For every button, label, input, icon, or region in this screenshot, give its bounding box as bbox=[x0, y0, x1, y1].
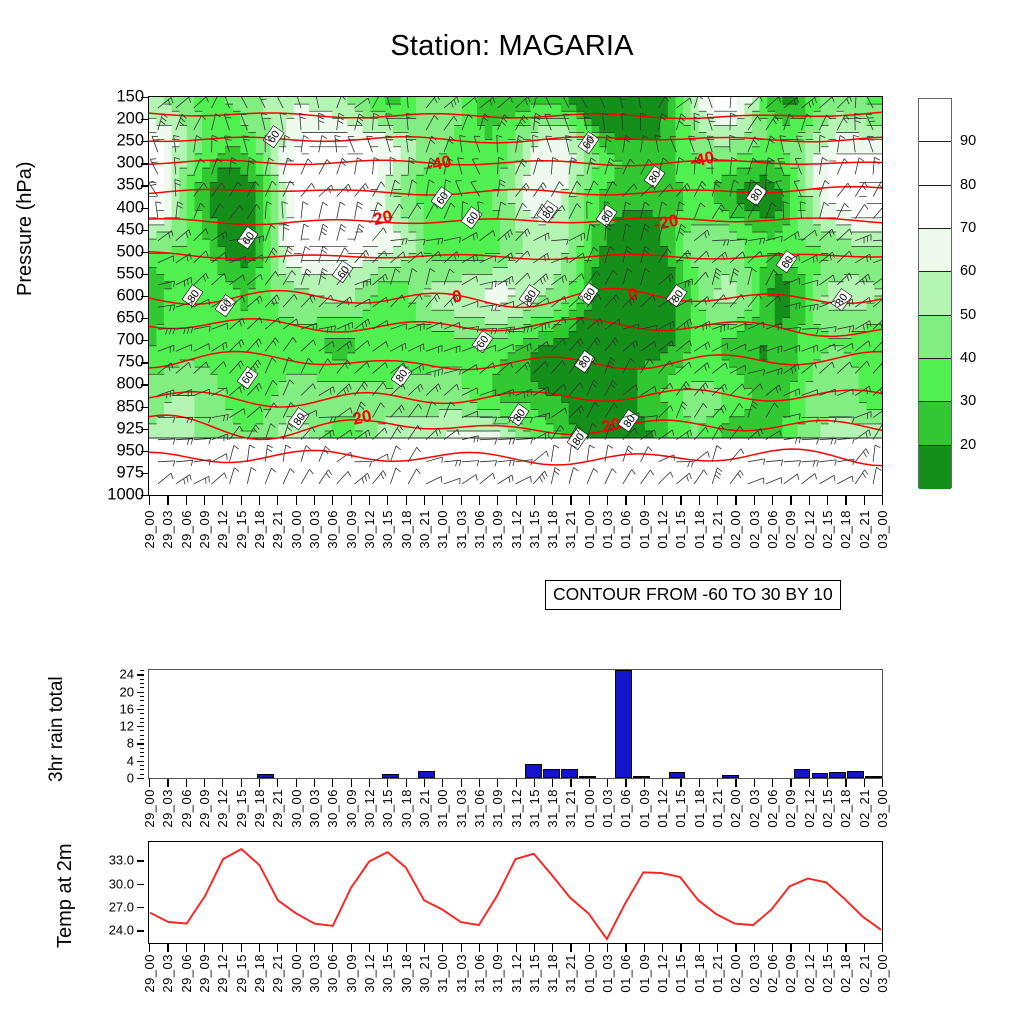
x-tick bbox=[479, 496, 480, 505]
pressure-tick bbox=[141, 429, 148, 430]
pressure-label: 300 bbox=[90, 154, 144, 173]
x-axis-label: 01_09 bbox=[637, 789, 652, 828]
x-axis-label: 01_18 bbox=[692, 510, 707, 549]
x-axis-label: 30_18 bbox=[399, 510, 414, 549]
x-tick bbox=[809, 944, 810, 952]
x-tick bbox=[772, 779, 773, 787]
temp-y-tick bbox=[137, 930, 144, 931]
x-axis-label: 29_18 bbox=[252, 789, 267, 828]
rain-y-minor-tick bbox=[140, 735, 144, 736]
rain-y-minor-tick bbox=[140, 752, 144, 753]
pressure-tick bbox=[141, 230, 148, 231]
x-axis-label: 30_21 bbox=[417, 789, 432, 828]
x-axis-label: 30_06 bbox=[325, 789, 340, 828]
contour-field: -40-40-20-200020206060608060608080808060… bbox=[149, 97, 882, 495]
rain-panel-x-ticks bbox=[148, 779, 883, 789]
x-tick bbox=[589, 779, 590, 787]
x-axis-label: 02_03 bbox=[747, 510, 762, 549]
x-tick bbox=[570, 779, 571, 787]
rain-bar[interactable] bbox=[561, 769, 578, 778]
temp-panel-x-ticks bbox=[148, 944, 883, 954]
rain-y-tick bbox=[137, 778, 144, 779]
x-tick bbox=[790, 779, 791, 787]
x-axis-label: 02_15 bbox=[820, 789, 835, 828]
x-axis-label: 02_06 bbox=[765, 510, 780, 549]
x-axis-label: 31_00 bbox=[435, 789, 450, 828]
pressure-label: 250 bbox=[90, 132, 144, 151]
x-tick bbox=[827, 779, 828, 787]
x-tick bbox=[167, 496, 168, 505]
x-tick bbox=[790, 496, 791, 505]
x-axis-label: 31_03 bbox=[454, 789, 469, 828]
x-axis-label: 03_00 bbox=[875, 789, 890, 828]
pressure-tick bbox=[141, 119, 148, 120]
rain-bar[interactable] bbox=[794, 769, 811, 778]
rain-panel-y-axis-title: 3hr rain total bbox=[46, 676, 68, 782]
x-axis-label: 01_18 bbox=[692, 954, 707, 993]
x-tick bbox=[570, 944, 571, 952]
x-axis-label: 30_21 bbox=[417, 510, 432, 549]
x-axis-label: 02_12 bbox=[802, 954, 817, 993]
x-axis-label: 02_18 bbox=[838, 510, 853, 549]
pressure-tick bbox=[141, 407, 148, 408]
rain-y-minor-tick bbox=[140, 683, 144, 684]
rain-panel-y-axis-labels: 04812162024 bbox=[98, 669, 144, 779]
x-tick bbox=[259, 944, 260, 952]
temperature-line-chart[interactable] bbox=[148, 841, 883, 944]
x-tick bbox=[662, 944, 663, 952]
x-axis-label: 29_03 bbox=[160, 789, 175, 828]
x-axis-label: 02_15 bbox=[820, 954, 835, 993]
rain-y-minor-tick bbox=[140, 679, 144, 680]
x-tick bbox=[369, 496, 370, 505]
x-tick bbox=[882, 779, 883, 787]
rain-y-label: 0 bbox=[100, 771, 134, 786]
x-tick bbox=[222, 944, 223, 952]
x-axis-label: 31_09 bbox=[490, 510, 505, 549]
x-axis-label: 02_18 bbox=[838, 954, 853, 993]
pressure-tick bbox=[141, 362, 148, 363]
x-tick bbox=[314, 944, 315, 952]
x-tick bbox=[442, 779, 443, 787]
pressure-label: 950 bbox=[90, 441, 144, 460]
rain-y-minor-tick bbox=[140, 670, 144, 671]
x-axis-label: 01_06 bbox=[618, 510, 633, 549]
colorbar-band bbox=[919, 316, 951, 359]
pressure-label: 650 bbox=[90, 309, 144, 328]
x-axis-label: 29_18 bbox=[252, 954, 267, 993]
temp-y-label: 33.0 bbox=[94, 853, 134, 868]
x-tick bbox=[241, 944, 242, 952]
x-axis-label: 01_06 bbox=[618, 954, 633, 993]
pressure-tick bbox=[141, 473, 148, 474]
x-axis-label: 29_21 bbox=[270, 789, 285, 828]
pressure-tick bbox=[141, 296, 148, 297]
x-axis-label: 31_21 bbox=[563, 510, 578, 549]
x-axis-label: 31_15 bbox=[527, 789, 542, 828]
x-axis-label: 31_09 bbox=[490, 954, 505, 993]
rain-y-minor-tick bbox=[140, 687, 144, 688]
x-axis-label: 30_00 bbox=[289, 954, 304, 993]
colorbar-tick-label: 40 bbox=[960, 350, 976, 366]
x-axis-label: 29_06 bbox=[179, 510, 194, 549]
rain-bar[interactable] bbox=[615, 670, 632, 778]
rain-bar[interactable] bbox=[382, 774, 399, 778]
rain-bar[interactable] bbox=[669, 772, 686, 778]
x-axis-label: 02_09 bbox=[783, 789, 798, 828]
x-tick bbox=[864, 944, 865, 952]
x-axis-label: 01_21 bbox=[710, 789, 725, 828]
x-tick bbox=[754, 779, 755, 787]
pressure-label: 975 bbox=[90, 463, 144, 482]
x-axis-label: 29_09 bbox=[197, 510, 212, 549]
rain-bar[interactable] bbox=[722, 775, 739, 778]
temp-panel-y-axis-title: Temp at 2m bbox=[54, 844, 77, 948]
x-tick bbox=[186, 779, 187, 787]
x-axis-label: 31_18 bbox=[545, 510, 560, 549]
x-axis-label: 29_00 bbox=[142, 954, 157, 993]
pressure-label: 800 bbox=[90, 375, 144, 394]
colorbar-band bbox=[919, 402, 951, 445]
x-axis-label: 02_00 bbox=[728, 954, 743, 993]
x-tick bbox=[845, 496, 846, 505]
x-axis-label: 31_00 bbox=[435, 954, 450, 993]
x-tick bbox=[351, 779, 352, 787]
x-tick bbox=[607, 944, 608, 952]
pressure-label: 550 bbox=[90, 264, 144, 283]
temp-y-tick bbox=[137, 860, 144, 861]
x-tick bbox=[442, 496, 443, 505]
colorbar-band bbox=[919, 359, 951, 402]
x-axis-label: 29_09 bbox=[197, 789, 212, 828]
x-tick bbox=[717, 779, 718, 787]
x-axis-label: 31_03 bbox=[454, 954, 469, 993]
colorbar-tick-label: 60 bbox=[960, 263, 976, 279]
x-axis-label: 02_18 bbox=[838, 789, 853, 828]
rain-y-minor-tick bbox=[140, 705, 144, 706]
rain-bar[interactable] bbox=[257, 774, 274, 778]
x-axis-label: 02_12 bbox=[802, 510, 817, 549]
rain-y-minor-tick bbox=[140, 748, 144, 749]
x-axis-label: 02_12 bbox=[802, 789, 817, 828]
x-tick bbox=[809, 779, 810, 787]
x-axis-label: 30_12 bbox=[362, 789, 377, 828]
rain-y-minor-tick bbox=[140, 774, 144, 775]
rain-bar[interactable] bbox=[829, 772, 846, 778]
main-panel-y-axis-title: Pressure (hPa) bbox=[14, 162, 37, 297]
rain-bar[interactable] bbox=[865, 776, 882, 778]
x-tick bbox=[864, 496, 865, 505]
x-tick bbox=[699, 496, 700, 505]
x-axis-label: 02_00 bbox=[728, 789, 743, 828]
rain-bar[interactable] bbox=[633, 776, 650, 778]
pressure-label: 500 bbox=[90, 242, 144, 261]
rain-y-minor-tick bbox=[140, 713, 144, 714]
colorbar-tick-label: 20 bbox=[960, 437, 976, 453]
x-tick bbox=[387, 944, 388, 952]
x-axis-label: 01_00 bbox=[582, 510, 597, 549]
pressure-tick bbox=[141, 141, 148, 142]
rain-bar[interactable] bbox=[812, 773, 829, 778]
x-tick bbox=[149, 944, 150, 952]
x-axis-label: 01_09 bbox=[637, 510, 652, 549]
x-axis-label: 02_09 bbox=[783, 954, 798, 993]
x-tick bbox=[589, 496, 590, 505]
x-axis-label: 31_03 bbox=[454, 510, 469, 549]
x-axis-label: 01_03 bbox=[600, 789, 615, 828]
x-axis-label: 01_21 bbox=[710, 954, 725, 993]
x-tick bbox=[644, 779, 645, 787]
x-tick bbox=[754, 944, 755, 952]
x-axis-label: 30_00 bbox=[289, 789, 304, 828]
x-axis-label: 31_21 bbox=[563, 789, 578, 828]
x-tick bbox=[296, 496, 297, 505]
x-tick bbox=[644, 496, 645, 505]
x-tick bbox=[149, 496, 150, 505]
x-tick bbox=[516, 944, 517, 952]
x-tick bbox=[827, 944, 828, 952]
x-tick bbox=[204, 779, 205, 787]
rain-y-minor-tick bbox=[140, 696, 144, 697]
x-axis-label: 30_15 bbox=[380, 510, 395, 549]
x-tick bbox=[222, 779, 223, 787]
x-tick bbox=[717, 944, 718, 952]
pressure-label: 200 bbox=[90, 110, 144, 129]
x-tick bbox=[625, 944, 626, 952]
x-tick bbox=[534, 944, 535, 952]
x-tick bbox=[296, 944, 297, 952]
pressure-tick bbox=[141, 384, 148, 385]
x-axis-label: 02_21 bbox=[857, 954, 872, 993]
x-axis-label: 30_00 bbox=[289, 510, 304, 549]
rain-y-minor-tick bbox=[140, 739, 144, 740]
pressure-tick bbox=[141, 97, 148, 98]
rain-y-minor-tick bbox=[140, 700, 144, 701]
x-tick bbox=[864, 779, 865, 787]
x-axis-label: 30_12 bbox=[362, 510, 377, 549]
rain-y-tick bbox=[137, 761, 144, 762]
rain-bar[interactable] bbox=[847, 771, 864, 778]
x-tick bbox=[241, 779, 242, 787]
temp-panel-y-axis-labels: 24.027.030.033.0 bbox=[90, 841, 144, 944]
x-axis-label: 31_15 bbox=[527, 510, 542, 549]
x-axis-label: 30_21 bbox=[417, 954, 432, 993]
x-tick bbox=[149, 779, 150, 787]
rain-y-tick bbox=[137, 692, 144, 693]
colorbar-tick-label: 90 bbox=[960, 133, 976, 149]
colorbar-tick-label: 70 bbox=[960, 220, 976, 236]
x-axis-label: 30_03 bbox=[307, 954, 322, 993]
x-axis-label: 30_09 bbox=[344, 789, 359, 828]
x-tick bbox=[259, 779, 260, 787]
x-axis-label: 30_03 bbox=[307, 789, 322, 828]
pressure-label: 700 bbox=[90, 331, 144, 350]
x-axis-label: 30_15 bbox=[380, 954, 395, 993]
x-tick bbox=[424, 496, 425, 505]
rain-y-tick bbox=[137, 743, 144, 744]
x-tick bbox=[735, 779, 736, 787]
x-tick bbox=[186, 496, 187, 505]
rain-bar[interactable] bbox=[418, 771, 435, 778]
x-tick bbox=[442, 944, 443, 952]
pressure-tick bbox=[141, 318, 148, 319]
pressure-label: 150 bbox=[90, 88, 144, 107]
pressure-label: 925 bbox=[90, 419, 144, 438]
x-tick bbox=[790, 944, 791, 952]
x-axis-label: 29_06 bbox=[179, 789, 194, 828]
temp-y-label: 24.0 bbox=[94, 923, 134, 938]
x-tick bbox=[552, 779, 553, 787]
rain-y-tick bbox=[137, 709, 144, 710]
x-tick bbox=[277, 944, 278, 952]
x-tick bbox=[406, 944, 407, 952]
x-tick bbox=[186, 944, 187, 952]
x-tick bbox=[699, 779, 700, 787]
x-tick bbox=[351, 496, 352, 505]
x-axis-label: 01_12 bbox=[655, 789, 670, 828]
x-axis-label: 31_06 bbox=[472, 789, 487, 828]
x-axis-label: 29_09 bbox=[197, 954, 212, 993]
rain-y-tick bbox=[137, 726, 144, 727]
x-axis-label: 31_00 bbox=[435, 510, 450, 549]
x-axis-label: 30_03 bbox=[307, 510, 322, 549]
rain-bar[interactable] bbox=[525, 764, 542, 778]
rain-y-minor-tick bbox=[140, 730, 144, 731]
x-tick bbox=[607, 779, 608, 787]
x-axis-label: 29_06 bbox=[179, 954, 194, 993]
pressure-tick bbox=[141, 274, 148, 275]
colorbar-band bbox=[919, 272, 951, 315]
pressure-tick bbox=[141, 163, 148, 164]
x-tick bbox=[497, 944, 498, 952]
colorbar-tick-label: 30 bbox=[960, 393, 976, 409]
x-tick bbox=[882, 944, 883, 952]
x-axis-label: 02_15 bbox=[820, 510, 835, 549]
x-axis-label: 29_00 bbox=[142, 510, 157, 549]
x-tick bbox=[461, 944, 462, 952]
x-axis-label: 31_15 bbox=[527, 954, 542, 993]
x-axis-label: 01_15 bbox=[673, 789, 688, 828]
x-axis-label: 30_15 bbox=[380, 789, 395, 828]
x-tick bbox=[754, 496, 755, 505]
colorbar-band bbox=[919, 99, 951, 142]
x-axis-label: 02_00 bbox=[728, 510, 743, 549]
x-tick bbox=[369, 944, 370, 952]
x-axis-label: 29_18 bbox=[252, 510, 267, 549]
x-axis-label: 29_12 bbox=[215, 954, 230, 993]
x-axis-label: 01_15 bbox=[673, 954, 688, 993]
colorbar[interactable] bbox=[918, 98, 952, 488]
x-tick bbox=[167, 944, 168, 952]
x-tick bbox=[827, 496, 828, 505]
rain-y-label: 16 bbox=[100, 701, 134, 716]
x-tick bbox=[534, 779, 535, 787]
x-axis-label: 02_06 bbox=[765, 954, 780, 993]
x-tick bbox=[479, 779, 480, 787]
rain-bar[interactable] bbox=[543, 769, 560, 778]
x-tick bbox=[204, 496, 205, 505]
temp-panel-x-axis-labels: 29_0029_0329_0629_0929_1229_1529_1829_21… bbox=[148, 954, 883, 1016]
pressure-label: 450 bbox=[90, 220, 144, 239]
rain-bar[interactable] bbox=[579, 776, 596, 778]
x-axis-label: 31_18 bbox=[545, 789, 560, 828]
x-tick bbox=[332, 496, 333, 505]
x-axis-label: 01_00 bbox=[582, 954, 597, 993]
x-tick bbox=[461, 496, 462, 505]
main-panel-y-axis-labels: 1502002503003504004505005506006507007508… bbox=[86, 96, 144, 496]
x-tick bbox=[497, 779, 498, 787]
rain-y-minor-tick bbox=[140, 722, 144, 723]
x-tick bbox=[424, 779, 425, 787]
x-tick bbox=[406, 496, 407, 505]
rain-y-minor-tick bbox=[140, 756, 144, 757]
x-axis-label: 29_00 bbox=[142, 789, 157, 828]
pressure-tick bbox=[141, 495, 148, 496]
x-tick bbox=[296, 779, 297, 787]
page-title: Station: MAGARIA bbox=[0, 30, 1024, 63]
x-tick bbox=[570, 496, 571, 505]
x-tick bbox=[882, 496, 883, 505]
colorbar-band bbox=[919, 229, 951, 272]
humidity-cross-section-plot[interactable]: -40-40-20-200020206060608060608080808060… bbox=[148, 96, 883, 496]
colorbar-band bbox=[919, 142, 951, 185]
x-axis-label: 01_00 bbox=[582, 789, 597, 828]
x-tick bbox=[680, 779, 681, 787]
pressure-tick bbox=[141, 340, 148, 341]
pressure-tick bbox=[141, 208, 148, 209]
x-axis-label: 01_15 bbox=[673, 510, 688, 549]
x-axis-label: 02_21 bbox=[857, 789, 872, 828]
x-axis-label: 01_09 bbox=[637, 954, 652, 993]
x-axis-label: 30_06 bbox=[325, 954, 340, 993]
x-tick bbox=[845, 779, 846, 787]
x-tick bbox=[387, 496, 388, 505]
x-axis-label: 01_06 bbox=[618, 789, 633, 828]
x-tick bbox=[406, 779, 407, 787]
x-tick bbox=[516, 496, 517, 505]
x-tick bbox=[534, 496, 535, 505]
main-panel-x-axis-labels: 29_0029_0329_0629_0929_1229_1529_1829_21… bbox=[148, 510, 883, 572]
x-axis-label: 31_09 bbox=[490, 789, 505, 828]
contour-info-box: CONTOUR FROM -60 TO 30 BY 10 bbox=[545, 580, 841, 610]
x-tick bbox=[332, 779, 333, 787]
x-axis-label: 30_18 bbox=[399, 789, 414, 828]
x-tick bbox=[351, 944, 352, 952]
rain-y-tick bbox=[137, 674, 144, 675]
pressure-tick bbox=[141, 252, 148, 253]
x-axis-label: 01_12 bbox=[655, 510, 670, 549]
x-tick bbox=[845, 944, 846, 952]
rain-y-label: 24 bbox=[100, 667, 134, 682]
pressure-label: 850 bbox=[90, 397, 144, 416]
x-tick bbox=[717, 496, 718, 505]
rain-bar-chart[interactable] bbox=[148, 669, 883, 779]
x-axis-label: 01_21 bbox=[710, 510, 725, 549]
x-tick bbox=[625, 779, 626, 787]
x-axis-label: 31_12 bbox=[509, 510, 524, 549]
x-tick bbox=[625, 496, 626, 505]
x-tick bbox=[699, 944, 700, 952]
x-tick bbox=[809, 496, 810, 505]
pressure-label: 1000 bbox=[90, 486, 144, 505]
rain-y-label: 8 bbox=[100, 736, 134, 751]
temp-y-tick bbox=[137, 884, 144, 885]
rain-y-label: 4 bbox=[100, 753, 134, 768]
main-panel-x-ticks bbox=[148, 496, 883, 506]
x-tick bbox=[662, 496, 663, 505]
x-tick bbox=[552, 944, 553, 952]
x-tick bbox=[662, 779, 663, 787]
